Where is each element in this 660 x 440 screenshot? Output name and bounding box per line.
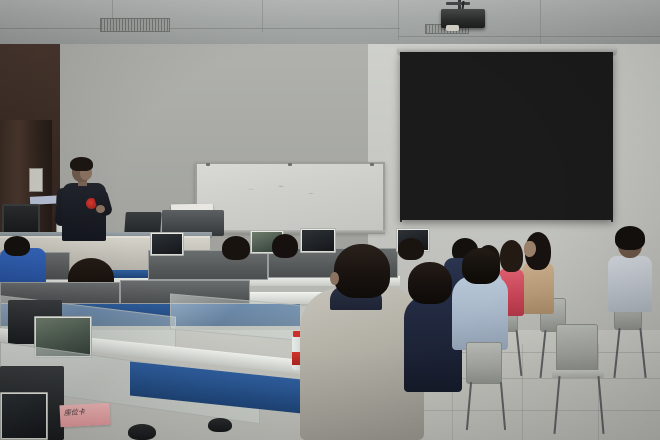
ceiling-panel-line <box>398 0 399 40</box>
projector-arm <box>446 2 470 5</box>
whiteboard-clip <box>288 163 292 166</box>
attendee-light-blue-shirt <box>452 276 508 350</box>
door-notice <box>29 168 43 192</box>
attendee-head <box>334 244 390 298</box>
folding-chair[interactable] <box>556 324 598 372</box>
attendee-head <box>462 248 500 284</box>
computer-mouse[interactable] <box>128 424 156 440</box>
laptop[interactable] <box>124 212 162 234</box>
tile-line <box>522 344 523 440</box>
whiteboard-clip <box>370 163 374 166</box>
presenter-hair <box>70 157 93 171</box>
ceiling <box>0 0 660 46</box>
attendee-head <box>408 262 452 304</box>
projector-lens <box>446 25 459 31</box>
projection-screen-frame: Office Automation Series · Data Manageme… <box>400 52 613 220</box>
student-monitor <box>150 232 184 256</box>
attendee-head <box>398 238 424 260</box>
attendee-white-shirt <box>608 256 652 312</box>
ceiling-seam <box>398 36 660 37</box>
attendee-ear <box>330 272 339 285</box>
whiteboard-writing <box>227 178 347 206</box>
student-monitor <box>300 228 336 253</box>
folding-chair[interactable] <box>466 342 502 384</box>
ceiling-panel-line <box>540 0 541 44</box>
presenter-hand <box>96 205 105 213</box>
classroom-photo: Office Automation Series · Data Manageme… <box>0 0 660 440</box>
attendee-head <box>272 234 298 258</box>
computer-mouse[interactable] <box>208 418 232 432</box>
student-monitor <box>0 392 48 440</box>
ceiling-vent <box>100 18 170 32</box>
attendee-head <box>222 236 250 260</box>
attendee-hair <box>615 226 645 250</box>
ceiling-panel-line <box>262 0 263 32</box>
attendee-head <box>4 236 30 256</box>
ceiling-seam <box>0 28 400 29</box>
attendee-hair <box>500 240 523 272</box>
whiteboard-clip <box>206 163 210 166</box>
seat-label-card: 座位卡 <box>59 403 110 428</box>
